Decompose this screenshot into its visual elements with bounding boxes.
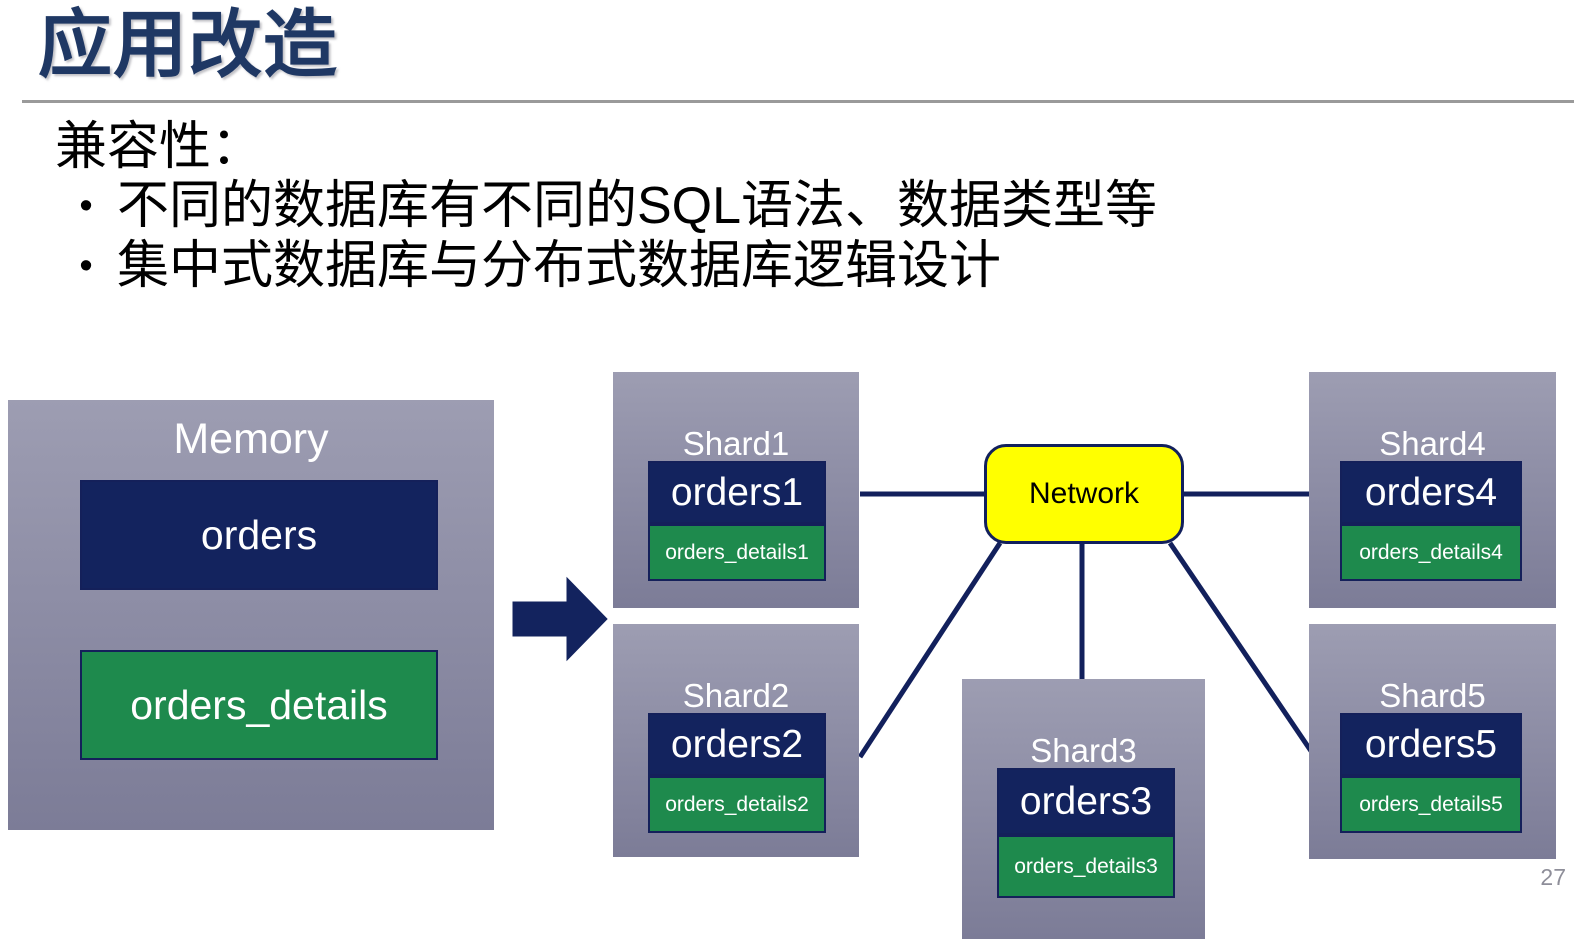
shard5-title-line1: Shard5 xyxy=(1309,676,1556,716)
network-node: Network xyxy=(984,444,1184,544)
shard2-title-line1: Shard2 xyxy=(613,676,859,716)
table-orders4: orders4 xyxy=(1340,461,1522,524)
memory-panel: Memory orders orders_details xyxy=(8,400,494,830)
shard4-title-line1: Shard4 xyxy=(1309,424,1556,464)
table-orders-details2: orders_details2 xyxy=(648,776,826,833)
table-orders-details: orders_details xyxy=(80,650,438,760)
shard-panel-shard4: Shard4 East orders4 orders_details4 xyxy=(1309,372,1556,608)
shard-panel-shard1: Shard1 North orders1 orders_details1 xyxy=(613,372,859,608)
shard-panel-shard2: Shard2 South orders2 orders_details2 xyxy=(613,624,859,857)
slide-number: 27 xyxy=(1540,864,1566,891)
table-orders5: orders5 xyxy=(1340,713,1522,776)
table-orders3: orders3 xyxy=(997,768,1175,835)
table-orders1: orders1 xyxy=(648,461,826,524)
architecture-diagram: Memory orders orders_details Shard1 Nort… xyxy=(0,0,1594,939)
table-orders-details3: orders_details3 xyxy=(997,835,1175,898)
table-orders: orders xyxy=(80,480,438,590)
shard3-title-line1: Shard3 xyxy=(962,731,1205,771)
table-orders-details5: orders_details5 xyxy=(1340,776,1522,833)
memory-panel-title: Memory xyxy=(8,415,494,464)
table-orders-details4: orders_details4 xyxy=(1340,524,1522,581)
shard-panel-shard5: Shard5 West orders5 orders_details5 xyxy=(1309,624,1556,859)
table-orders-details1: orders_details1 xyxy=(648,524,826,581)
transform-arrow-icon xyxy=(511,570,609,668)
slide-canvas: 应用改造 兼容性： • 不同的数据库有不同的SQL语法、数据类型等 • 集中式数… xyxy=(0,0,1594,939)
table-orders2: orders2 xyxy=(648,713,826,776)
shard1-title-line1: Shard1 xyxy=(613,424,859,464)
shard-panel-shard3: Shard3 Central orders3 orders_details3 xyxy=(962,679,1205,939)
